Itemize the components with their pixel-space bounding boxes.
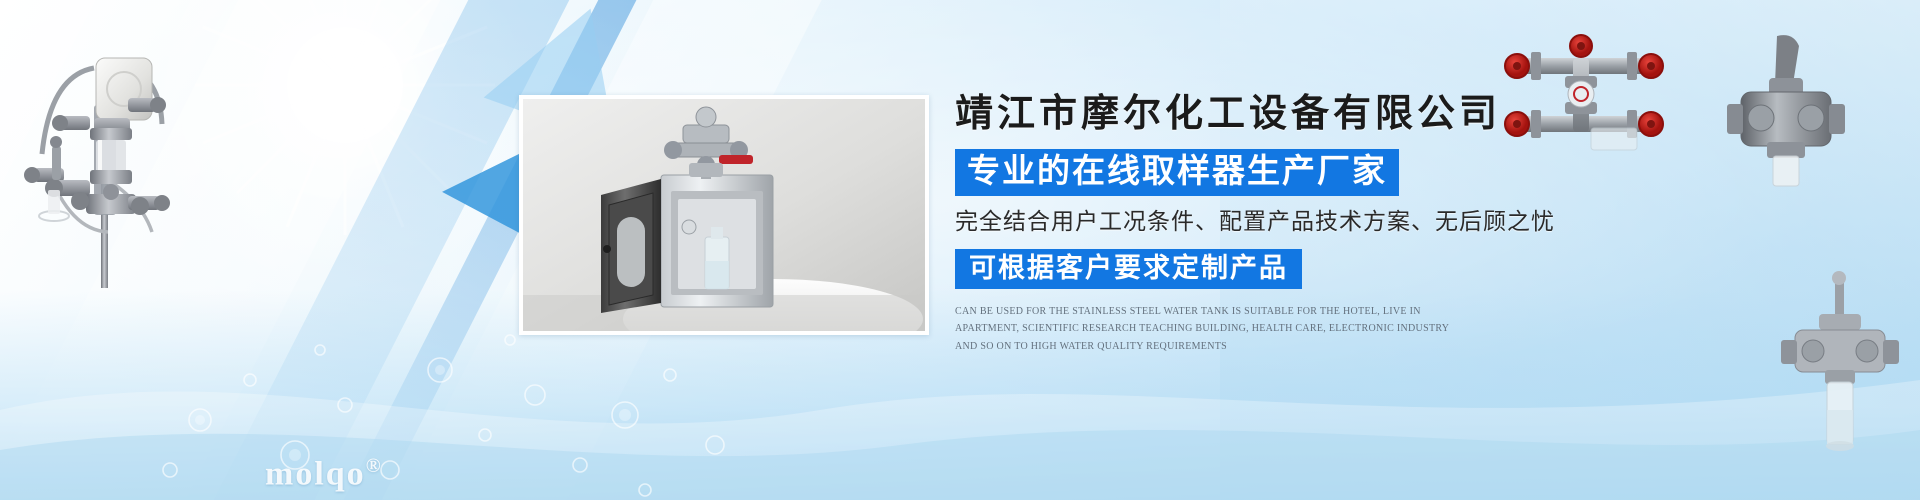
registered-mark-icon: ® [366,455,383,477]
sampling-cabinet-illustration [523,99,925,331]
banner-text-column: 靖江市摩尔化工设备有限公司 专业的在线取样器生产厂家 完全结合用户工况条件、配置… [955,82,1715,355]
brand-watermark: molqo® [265,455,383,493]
english-description: CAN BE USED FOR THE STAINLESS STEEL WATE… [955,303,1455,356]
product-photo-image [523,99,925,331]
watermark-text: molqo [265,455,366,492]
headline-highlight: 专业的在线取样器生产厂家 [955,149,1399,196]
sub-headline: 完全结合用户工况条件、配置产品技术方案、无后顾之忧 [955,207,1715,237]
tagline-row: 可根据客户要求定制产品 [955,249,1715,289]
company-name: 靖江市摩尔化工设备有限公司 [955,82,1715,137]
product-photo-center [519,95,929,335]
promo-banner: 靖江市摩尔化工设备有限公司 专业的在线取样器生产厂家 完全结合用户工况条件、配置… [0,0,1920,500]
tagline-highlight: 可根据客户要求定制产品 [955,249,1302,289]
headline-row: 专业的在线取样器生产厂家 [955,149,1715,196]
